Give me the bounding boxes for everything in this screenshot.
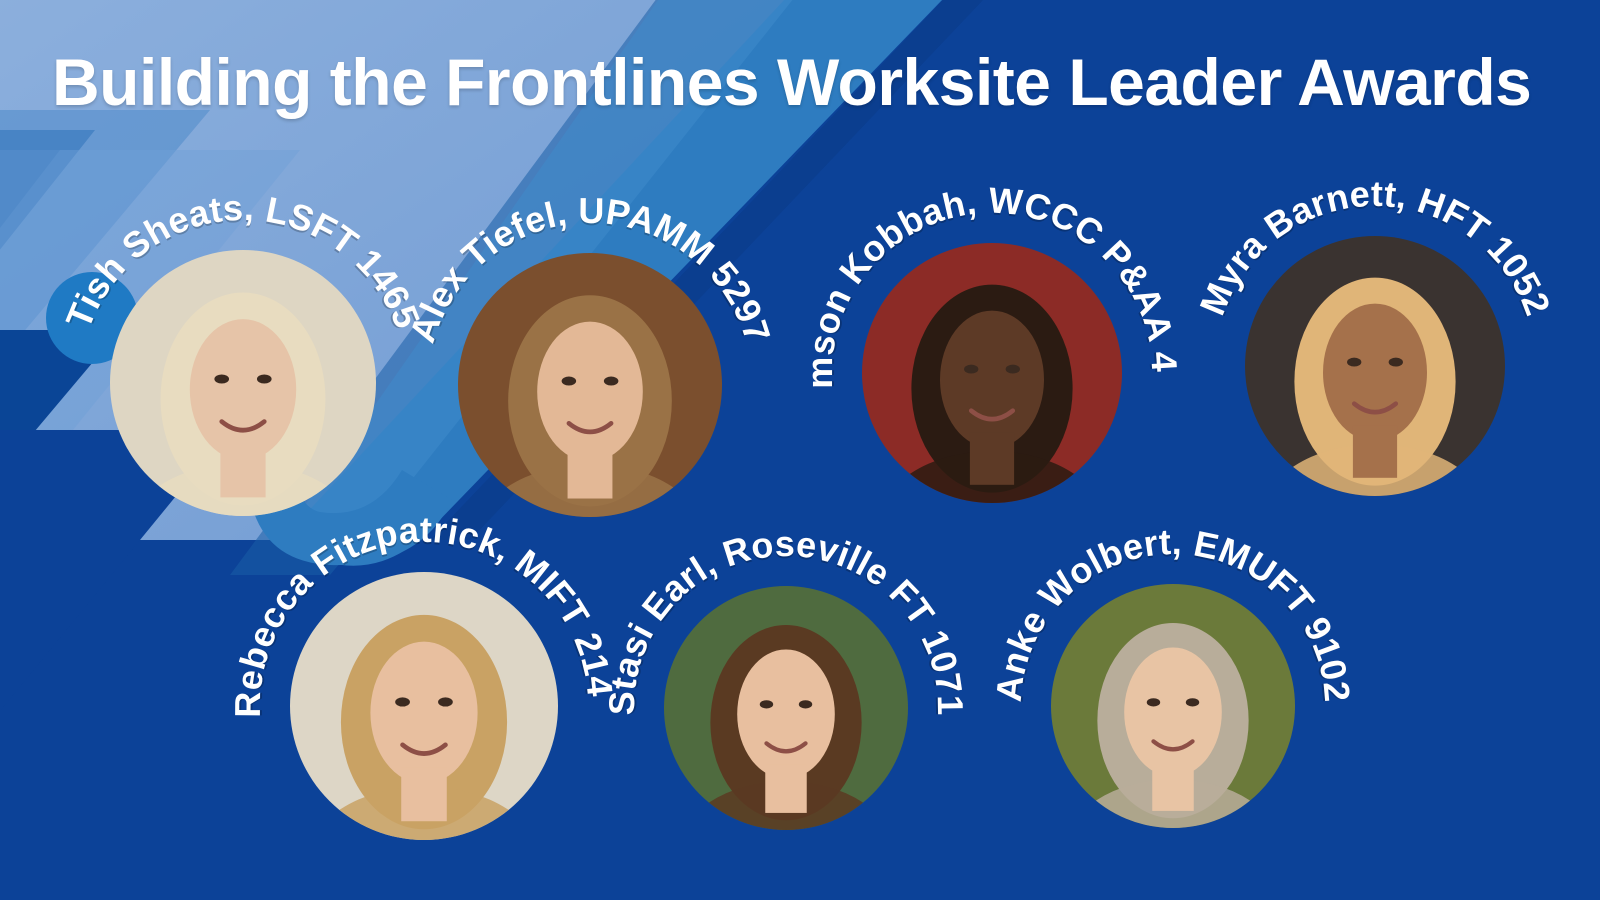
portrait-face <box>1323 304 1427 442</box>
portrait-eye-right <box>257 374 272 383</box>
portrait-eye-right <box>1186 698 1199 706</box>
portrait-eye-right <box>1389 358 1403 367</box>
portrait-face <box>190 319 296 460</box>
portrait-face <box>940 311 1044 449</box>
portrait-eye-right <box>438 697 453 706</box>
portrait-rebecca-fitzpatrick[interactable] <box>290 572 558 900</box>
portrait-face <box>1124 647 1222 776</box>
portrait-face <box>737 649 835 778</box>
portrait-neck <box>765 764 806 813</box>
portrait-eye-right <box>604 377 619 386</box>
honoree-card-myra-barnett[interactable]: Myra Barnett, HFT 1052Myra Barnett, HFT … <box>1191 173 1558 595</box>
portrait-eye-right <box>1006 365 1020 374</box>
portrait-neck <box>970 433 1014 485</box>
portrait-neck <box>401 768 447 822</box>
portrait-face <box>537 322 643 462</box>
portrait-eye-left <box>760 700 773 708</box>
honoree-card-stasi-earl[interactable]: Stasi Earl, Roseville FT 1071Stasi Earl,… <box>601 523 971 900</box>
portrait-stasi-earl[interactable] <box>664 586 908 900</box>
portrait-eye-left <box>214 374 229 383</box>
portrait-eye-left <box>562 377 577 386</box>
portrait-neck <box>1353 426 1397 478</box>
portrait-eye-left <box>1347 358 1361 367</box>
portrait-neck <box>1152 762 1193 811</box>
honoree-layer: Tish Sheats, LSFT 1465Tish Sheats, LSFT … <box>0 0 1600 900</box>
portrait-face <box>370 642 477 784</box>
portrait-eye-right <box>799 700 812 708</box>
portrait-neck <box>220 444 265 497</box>
honoree-card-anke-wolbert[interactable]: Anke Wolbert, EMUFT 9102Anke Wolbert, EM… <box>988 521 1358 900</box>
portrait-eye-left <box>395 697 410 706</box>
portrait-eye-left <box>964 365 978 374</box>
portrait-eye-left <box>1147 698 1160 706</box>
portrait-anke-wolbert[interactable] <box>1051 584 1295 900</box>
award-graphic: Building the Frontlines Worksite Leader … <box>0 0 1600 900</box>
portrait-myra-barnett[interactable] <box>1245 236 1505 595</box>
portrait-neck <box>568 446 613 499</box>
